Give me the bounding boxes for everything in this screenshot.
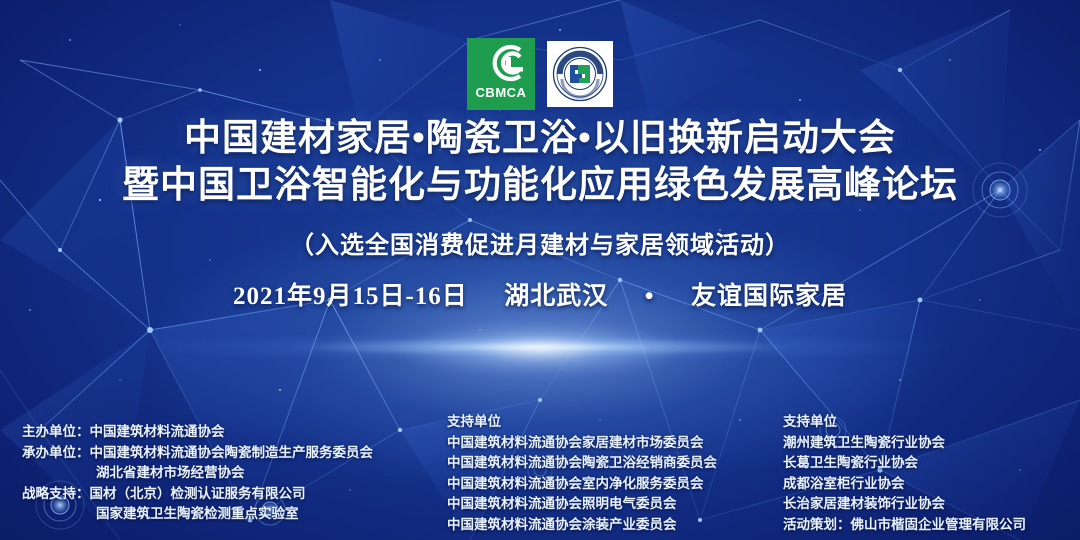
bullet-separator-icon: • xyxy=(645,283,655,310)
credits-column-supporters-committees: 支持单位 中国建筑材料流通协会家居建材市场委员会 中国建筑材料流通协会陶瓷卫浴经… xyxy=(447,412,717,535)
certification-seal-logo xyxy=(547,41,613,107)
credit-label: 主办单位： xyxy=(22,422,90,443)
event-venue: 友谊国际家居 xyxy=(691,283,847,310)
cbmca-logo-caption: CBMCA xyxy=(476,86,527,99)
credit-value: 中国建筑材料流通协会陶瓷制造生产服务委员会 xyxy=(90,445,374,460)
title-line-1: 中国建材家居•陶瓷卫浴•以旧换新启动大会 xyxy=(0,118,1080,159)
credits-heading: 支持单位 xyxy=(783,412,1026,433)
credit-label: 承办单位： xyxy=(22,443,90,464)
credit-value: 国材（北京）检测认证服务有限公司 xyxy=(90,486,306,501)
credits-column-supporters-associations: 支持单位 潮州建筑卫生陶瓷行业协会 长葛卫生陶瓷行业协会 成都浴室柜行业协会 长… xyxy=(783,412,1026,535)
credit-item: 成都浴室柜行业协会 xyxy=(783,474,1026,495)
credit-item: 中国建筑材料流通协会照明电气委员会 xyxy=(447,494,717,515)
event-date: 2021年9月15日-16日 xyxy=(233,283,468,310)
credit-row: 湖北省建材市场经营协会 xyxy=(22,463,373,484)
logo-row: CBMCA xyxy=(0,38,1080,110)
event-datetime-venue: 2021年9月15日-16日 湖北武汉 • 友谊国际家居 xyxy=(0,276,1080,312)
event-poster: CBMCA 中国建材家居•陶瓷卫浴•以旧换新启动大会 暨中国卫浴智能化与功能化应… xyxy=(0,0,1080,540)
credit-row: 国家建筑卫生陶瓷检测重点实验室 xyxy=(22,504,373,525)
credit-value: 湖北省建材市场经营协会 xyxy=(96,465,245,480)
credits-column-organizers: 主办单位：中国建筑材料流通协会 承办单位：中国建筑材料流通协会陶瓷制造生产服务委… xyxy=(22,422,373,525)
credit-row: 承办单位：中国建筑材料流通协会陶瓷制造生产服务委员会 xyxy=(22,443,373,464)
credit-item: 长葛卫生陶瓷行业协会 xyxy=(783,453,1026,474)
certification-seal-icon xyxy=(551,45,609,103)
credit-item: 潮州建筑卫生陶瓷行业协会 xyxy=(783,433,1026,454)
cbmca-logo: CBMCA xyxy=(467,38,535,110)
credits-block: 主办单位：中国建筑材料流通协会 承办单位：中国建筑材料流通协会陶瓷制造生产服务委… xyxy=(0,422,1080,532)
title-line-2: 暨中国卫浴智能化与功能化应用绿色发展高峰论坛 xyxy=(0,165,1080,206)
event-city: 湖北武汉 xyxy=(504,283,608,310)
credit-item: 长治家居建材装饰行业协会 xyxy=(783,494,1026,515)
credit-value: 国家建筑卫生陶瓷检测重点实验室 xyxy=(96,506,299,521)
credit-label: 战略支持： xyxy=(22,484,90,505)
headline-block: 中国建材家居•陶瓷卫浴•以旧换新启动大会 暨中国卫浴智能化与功能化应用绿色发展高… xyxy=(0,118,1080,312)
credit-row: 主办单位：中国建筑材料流通协会 xyxy=(22,422,373,443)
credit-item: 中国建筑材料流通协会家居建材市场委员会 xyxy=(447,433,717,454)
credit-item: 中国建筑材料流通协会室内净化服务委员会 xyxy=(447,474,717,495)
credit-item: 中国建筑材料流通协会涂装产业委员会 xyxy=(447,515,717,536)
credit-item: 活动策划：佛山市楷固企业管理有限公司 xyxy=(783,515,1026,536)
title-subtitle: （入选全国消费促进月建材与家居领域活动） xyxy=(0,225,1080,260)
credit-item: 中国建筑材料流通协会陶瓷卫浴经销商委员会 xyxy=(447,453,717,474)
credit-value: 中国建筑材料流通协会 xyxy=(90,424,225,439)
credits-heading: 支持单位 xyxy=(447,412,717,433)
credit-row: 战略支持：国材（北京）检测认证服务有限公司 xyxy=(22,484,373,505)
cbmca-mark-icon xyxy=(476,43,526,83)
